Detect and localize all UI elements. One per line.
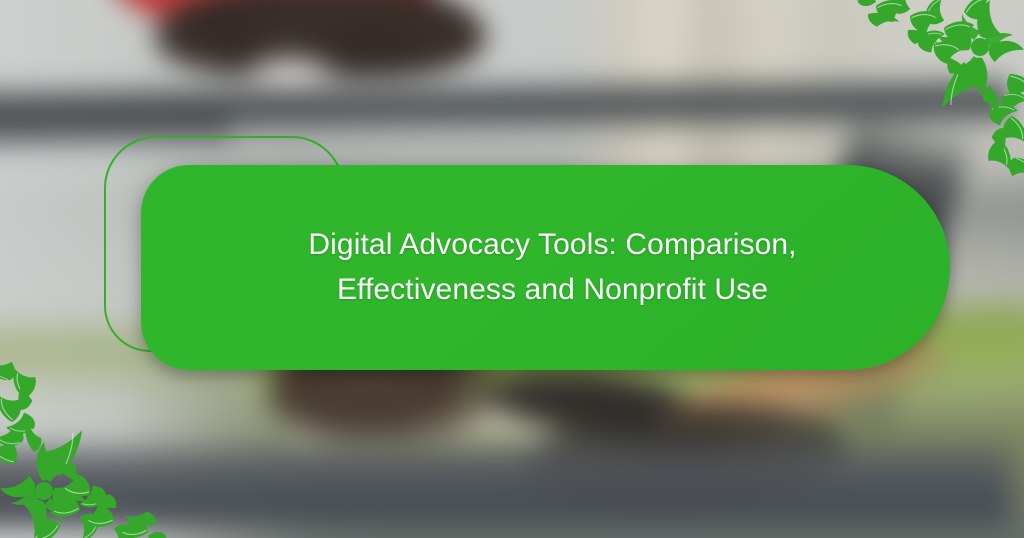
banner-canvas: Digital Advocacy Tools: Comparison, Effe… xyxy=(0,0,1024,538)
title-banner: Digital Advocacy Tools: Comparison, Effe… xyxy=(141,165,950,370)
page-title: Digital Advocacy Tools: Comparison, Effe… xyxy=(283,223,823,311)
background-bottom-sill xyxy=(0,436,1010,526)
title-banner-group: Digital Advocacy Tools: Comparison, Effe… xyxy=(100,130,950,375)
